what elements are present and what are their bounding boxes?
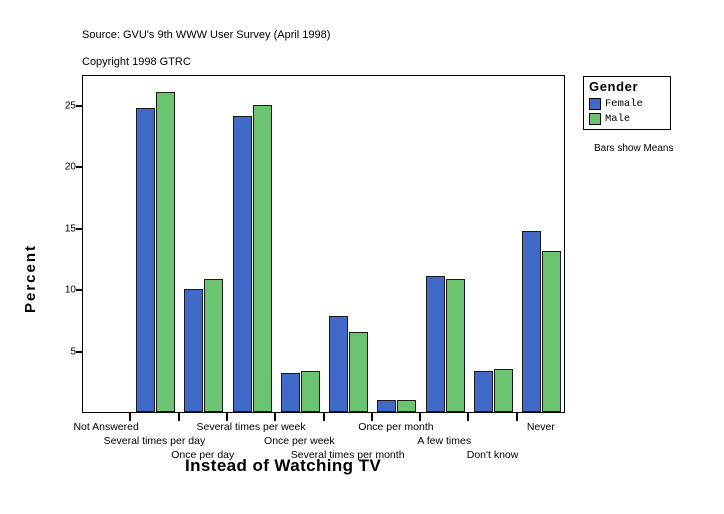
x-axis-tick-mark — [274, 413, 276, 421]
bar-group — [373, 76, 421, 412]
bar[interactable] — [253, 105, 272, 412]
legend-swatch-icon — [589, 113, 601, 125]
bar[interactable] — [329, 316, 348, 412]
bar[interactable] — [136, 108, 155, 412]
bar-group — [325, 76, 373, 412]
bar-group — [180, 76, 228, 412]
bar-group — [421, 76, 469, 412]
source-line: Source: GVU's 9th WWW User Survey (April… — [82, 29, 330, 41]
bar[interactable] — [233, 116, 252, 412]
legend-label: Female — [605, 98, 643, 110]
bar-group — [131, 76, 179, 412]
bar[interactable] — [474, 371, 493, 412]
legend-entries: FemaleMale — [589, 96, 665, 126]
bar-group — [469, 76, 517, 412]
x-axis-tick-mark — [419, 413, 421, 421]
x-axis-tick-mark — [226, 413, 228, 421]
x-axis-tick-mark — [178, 413, 180, 421]
x-axis-category-label: Not Answered — [73, 421, 138, 433]
bar[interactable] — [349, 332, 368, 412]
bar-group — [228, 76, 276, 412]
x-axis-tick-mark — [129, 413, 131, 421]
bar[interactable] — [426, 276, 445, 412]
x-axis-tick-mark — [371, 413, 373, 421]
legend-entry: Male — [589, 111, 665, 126]
bar[interactable] — [494, 369, 513, 412]
copyright-line: Copyright 1998 GTRC — [82, 56, 191, 68]
x-axis-tick-mark — [323, 413, 325, 421]
bar[interactable] — [156, 92, 175, 412]
x-axis-category-label: Several times per day — [104, 435, 206, 447]
bars-show-means-note: Bars show Means — [594, 143, 673, 154]
bar-group — [83, 76, 131, 412]
x-axis-category-label: Never — [527, 421, 555, 433]
y-axis-tick-label: 15 — [65, 223, 76, 234]
y-axis-title: Percent — [22, 244, 39, 313]
x-axis-category-label: Don't know — [467, 449, 519, 461]
bar[interactable] — [446, 279, 465, 412]
x-axis-category-label: Several times per week — [196, 421, 305, 433]
bar[interactable] — [281, 373, 300, 412]
x-axis-tick-marks — [82, 413, 565, 421]
legend-swatch-icon — [589, 98, 601, 110]
y-axis-tick-labels: 510152025 — [46, 75, 76, 413]
bar[interactable] — [397, 400, 416, 412]
plot-area — [83, 76, 564, 412]
bar-group — [518, 76, 566, 412]
legend: Gender FemaleMale — [583, 76, 671, 130]
bar[interactable] — [184, 289, 203, 412]
bar[interactable] — [377, 400, 396, 412]
y-axis-tick-label: 20 — [65, 162, 76, 173]
y-axis-tick-label: 25 — [65, 100, 76, 111]
x-axis-category-label: Once per month — [358, 421, 433, 433]
x-axis-tick-mark — [516, 413, 518, 421]
legend-entry: Female — [589, 96, 665, 111]
bar[interactable] — [542, 251, 561, 412]
bar[interactable] — [301, 371, 320, 412]
x-axis-category-label: Once per week — [264, 435, 335, 447]
y-axis-tick-label: 10 — [65, 285, 76, 296]
bar[interactable] — [522, 231, 541, 412]
bar[interactable] — [204, 279, 223, 412]
x-axis-tick-mark — [467, 413, 469, 421]
plot-frame — [82, 75, 565, 413]
legend-title: Gender — [589, 80, 665, 94]
legend-label: Male — [605, 113, 630, 125]
x-axis-title: Instead of Watching TV — [185, 456, 381, 476]
bar-group — [276, 76, 324, 412]
x-axis-category-label: A few times — [417, 435, 471, 447]
